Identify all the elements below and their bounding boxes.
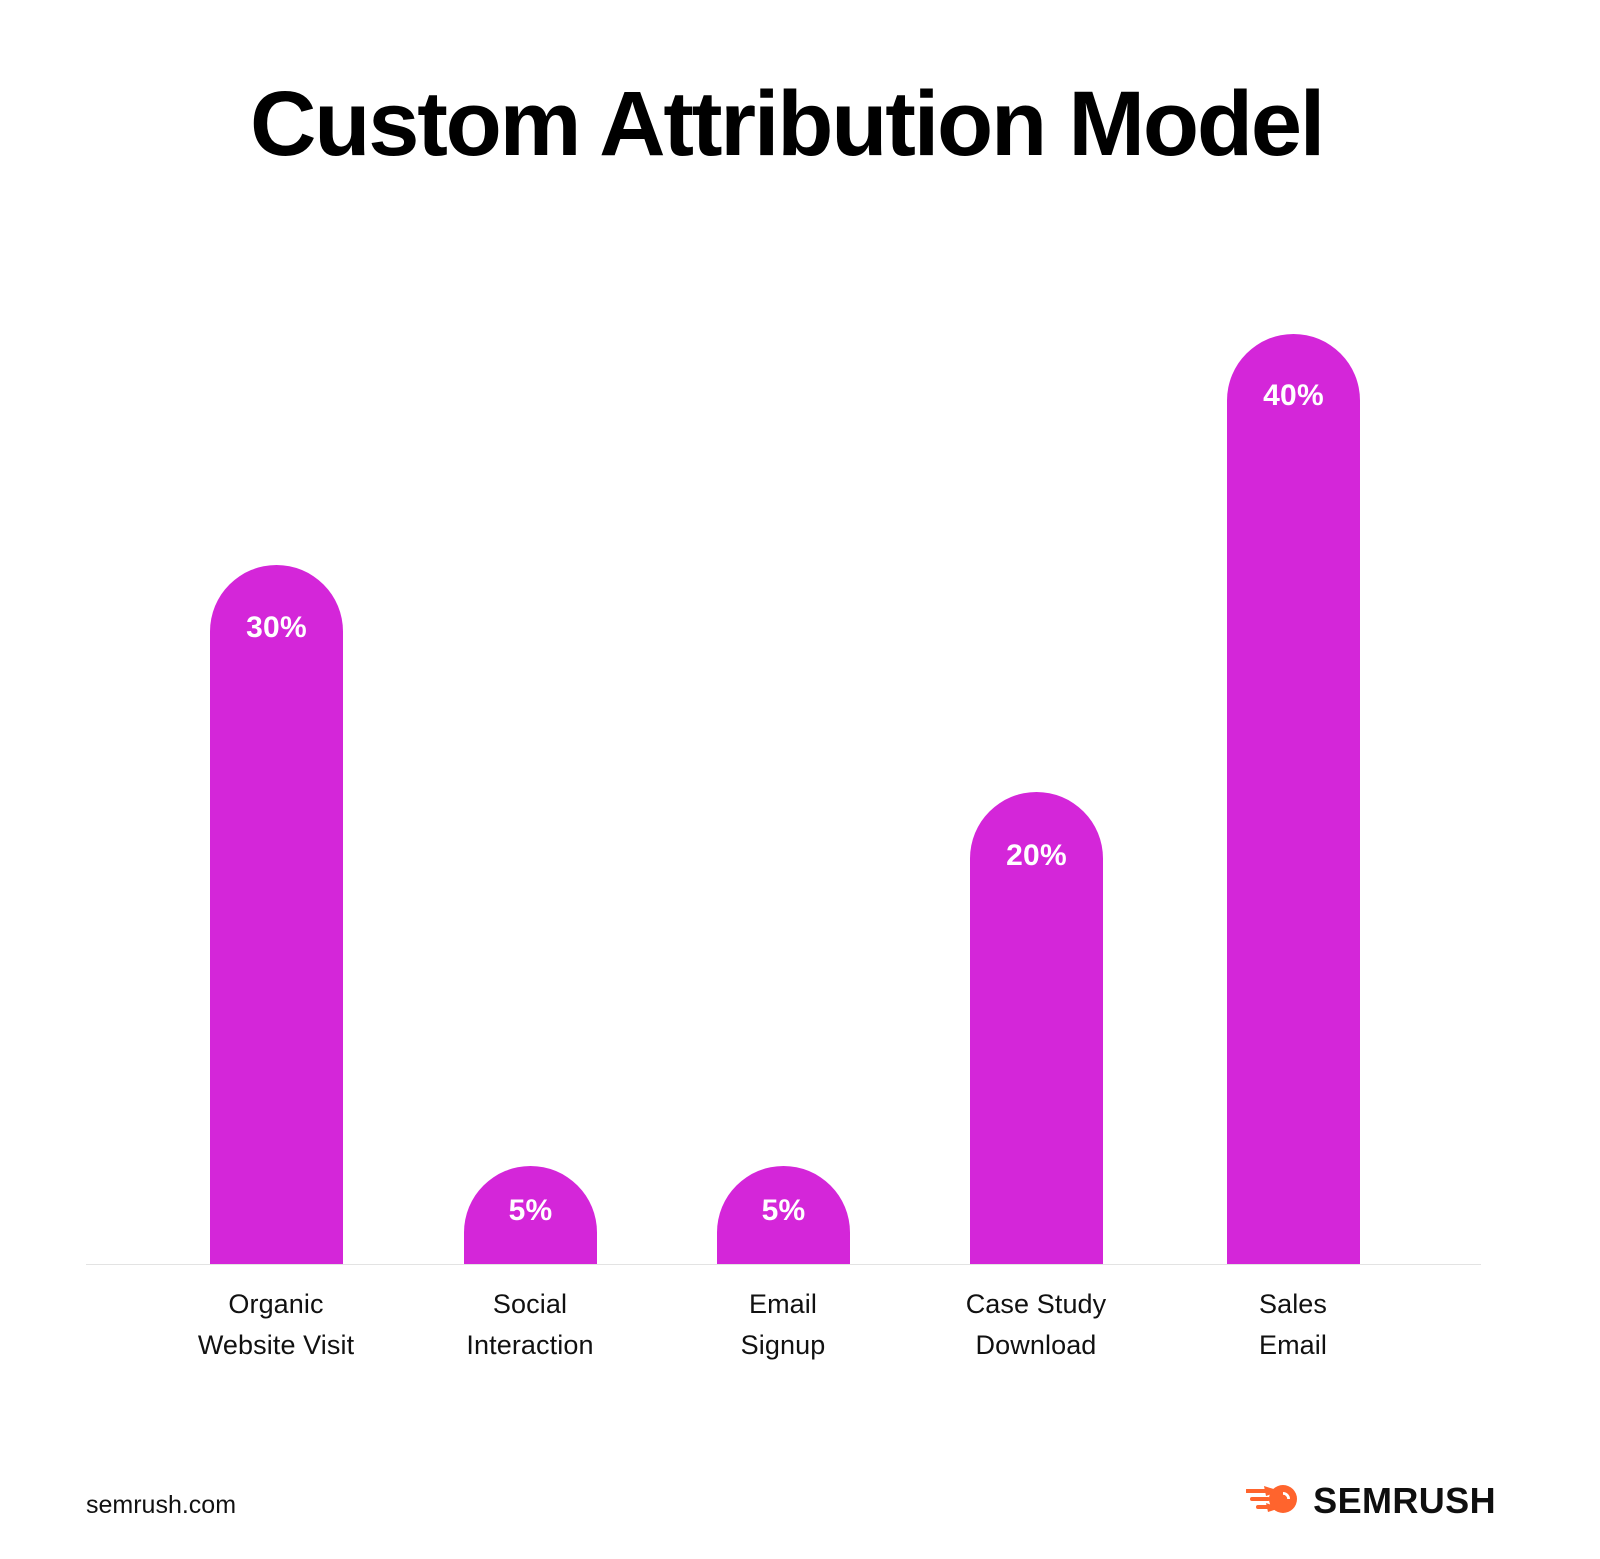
x-label-social-interaction: Social Interaction	[410, 1284, 650, 1366]
x-label-line-2: Website Visit	[156, 1325, 396, 1366]
x-label-organic-website-visit: Organic Website Visit	[156, 1284, 396, 1366]
bar-value-case-study-download: 20%	[970, 841, 1103, 871]
bar-value-sales-email: 40%	[1227, 381, 1360, 411]
x-label-line-2: Email	[1173, 1325, 1413, 1366]
footer-url: semrush.com	[86, 1490, 236, 1520]
bar-organic-website-visit[interactable]	[210, 565, 343, 1264]
x-label-line-2: Signup	[663, 1325, 903, 1366]
x-label-line-1: Organic	[156, 1284, 396, 1325]
semrush-wordmark: SEMRUSH	[1313, 1483, 1496, 1519]
x-label-line-2: Interaction	[410, 1325, 650, 1366]
bar-value-organic-website-visit: 30%	[210, 613, 343, 643]
x-label-line-1: Sales	[1173, 1284, 1413, 1325]
x-label-line-1: Email	[663, 1284, 903, 1325]
chart-canvas: Custom Attribution Model 30% Organic Web…	[0, 0, 1600, 1559]
x-label-line-1: Case Study	[916, 1284, 1156, 1325]
bar-value-social-interaction: 5%	[464, 1196, 597, 1226]
semrush-logo: SEMRUSH	[1246, 1478, 1496, 1524]
x-label-email-signup: Email Signup	[663, 1284, 903, 1366]
x-axis-baseline	[86, 1264, 1481, 1265]
bar-value-email-signup: 5%	[717, 1196, 850, 1226]
bar-sales-email[interactable]	[1227, 334, 1360, 1264]
x-label-case-study-download: Case Study Download	[916, 1284, 1156, 1366]
x-label-line-2: Download	[916, 1325, 1156, 1366]
plot-area: 30% Organic Website Visit 5% Social Inte…	[0, 0, 1600, 1559]
x-label-sales-email: Sales Email	[1173, 1284, 1413, 1366]
semrush-comet-icon	[1246, 1479, 1302, 1524]
x-label-line-1: Social	[410, 1284, 650, 1325]
